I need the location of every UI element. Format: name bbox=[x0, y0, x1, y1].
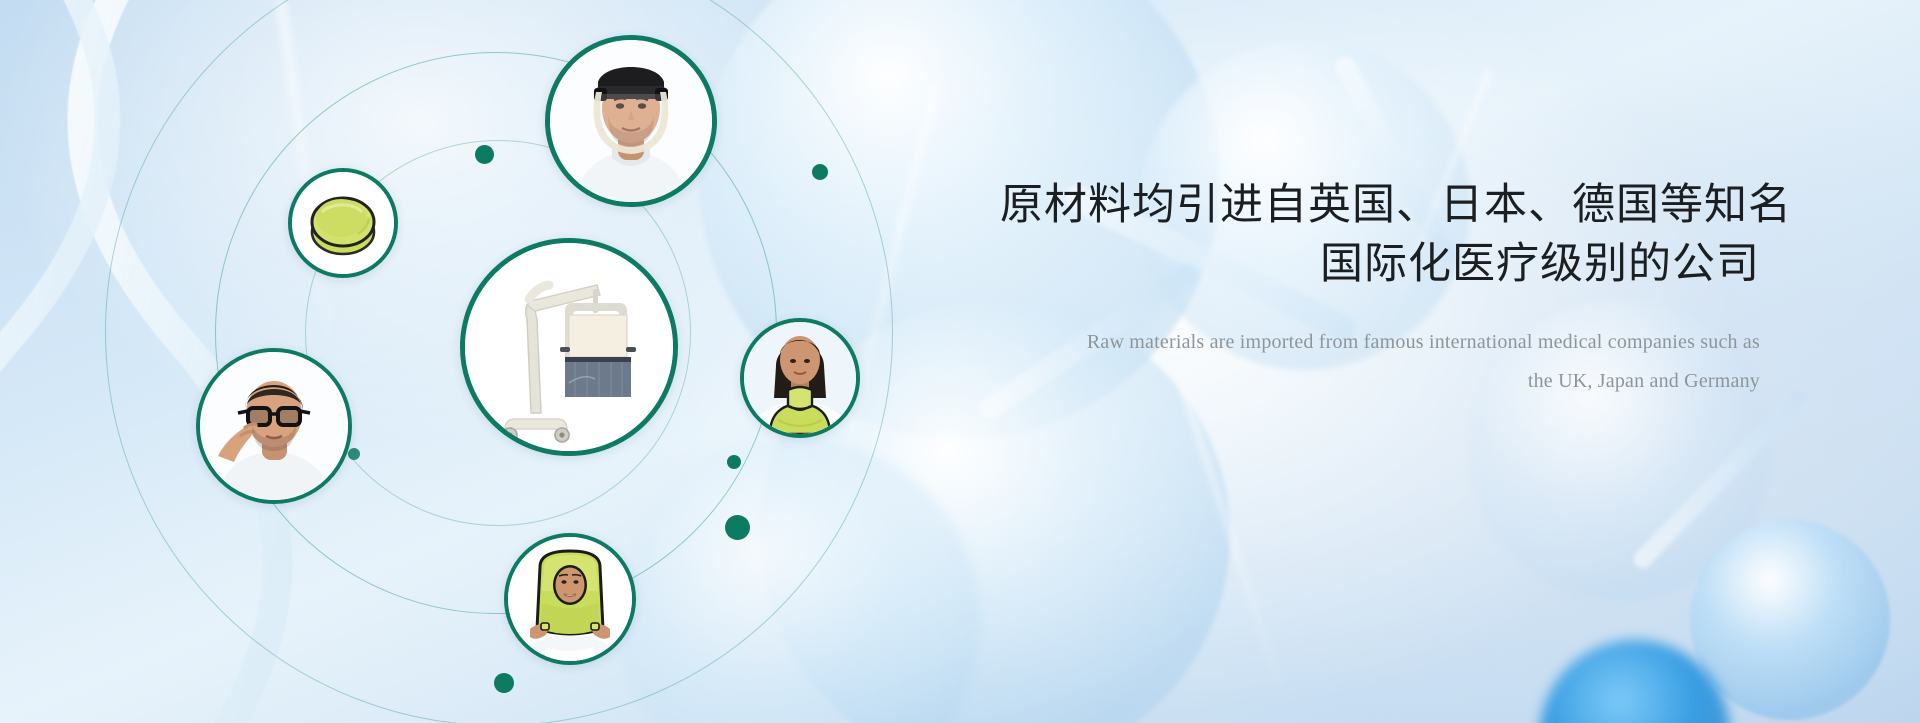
node-thyroid-collar[interactable] bbox=[740, 318, 860, 438]
molecule-sphere-accent bbox=[1540, 640, 1730, 723]
headline-line-2: 国际化医疗级别的公司 bbox=[1000, 235, 1760, 294]
product-orbit-diagram bbox=[0, 0, 900, 723]
hero-banner: 原材料均引进自英国、日本、德国等知名 国际化医疗级别的公司 Raw materi… bbox=[0, 0, 1920, 723]
orbit-marker-5 bbox=[494, 673, 514, 693]
subtitle-line-1: Raw materials are imported from famous i… bbox=[1000, 323, 1760, 362]
orbit-marker-4 bbox=[725, 515, 750, 540]
node-lead-hood[interactable] bbox=[504, 533, 636, 665]
molecule-sphere-6 bbox=[1690, 520, 1890, 720]
hero-copy: 原材料均引进自英国、日本、德国等知名 国际化医疗级别的公司 Raw materi… bbox=[1000, 176, 1760, 401]
subtitle-line-2: the UK, Japan and Germany bbox=[1000, 362, 1760, 401]
node-mobile-shield[interactable] bbox=[460, 238, 678, 456]
node-lead-cap[interactable] bbox=[288, 168, 398, 278]
light-streak-2 bbox=[1179, 387, 1289, 703]
node-face-shield[interactable] bbox=[545, 35, 717, 207]
page-subtitle: Raw materials are imported from famous i… bbox=[1000, 323, 1760, 401]
orbit-marker-2 bbox=[812, 164, 828, 180]
molecule-bond-4 bbox=[1630, 386, 1810, 571]
orbit-marker-1 bbox=[475, 145, 494, 164]
orbit-marker-6 bbox=[348, 448, 360, 460]
headline-line-1: 原材料均引进自英国、日本、德国等知名 bbox=[1000, 180, 1792, 230]
node-lead-glasses[interactable] bbox=[196, 348, 352, 504]
page-title: 原材料均引进自英国、日本、德国等知名 国际化医疗级别的公司 bbox=[1000, 176, 1760, 295]
orbit-marker-3 bbox=[727, 455, 741, 469]
